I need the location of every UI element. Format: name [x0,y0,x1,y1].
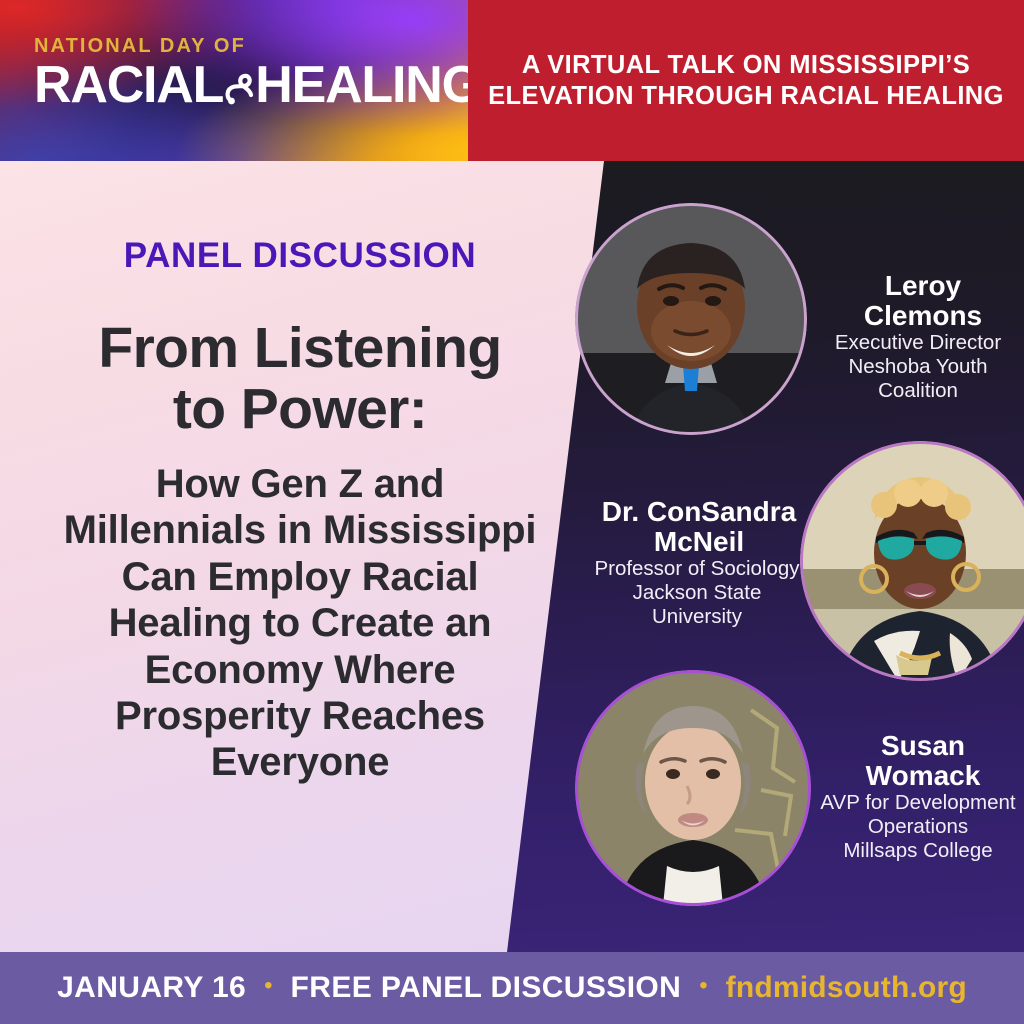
poster-footer: JANUARY 16 • FREE PANEL DISCUSSION • fnd… [0,952,1024,1024]
panelist-name-2-line-2: McNeil [590,527,808,557]
panelist-role-3: AVP for Development Operations Millsaps … [814,791,1022,864]
panelist-name-2: Dr. ConSandra McNeil [590,497,808,557]
panelist-role-2-line-2: Jackson State University [586,581,808,629]
panelist-role-2-line-1: Professor of Sociology [586,557,808,581]
panelist-role-3-line-2: Operations [814,815,1022,839]
panelist-name-1-line-1: Leroy [828,271,1018,301]
panelist-photo-3 [575,670,811,906]
subtitle-line-3: Can Employ Racial [26,554,574,600]
logo-word-healing: HEALING [255,59,468,111]
panelist-role-2: Professor of Sociology Jackson State Uni… [586,557,808,630]
poster-body: PANEL DISCUSSION From Listening to Power… [0,161,1024,952]
panelist-role-1: Executive Director Neshoba Youth Coaliti… [812,331,1024,404]
subtitle-line-6: Prosperity Reaches [26,693,574,739]
logo-tagline: NATIONAL DAY OF [34,36,446,56]
ampersand-swirl-icon [224,66,254,110]
banner-line-2: ELEVATION THROUGH RACIAL HEALING [486,81,1006,111]
panelist-name-3: Susan Womack [828,731,1018,791]
poster-header: NATIONAL DAY OF RACIAL HEALING A VIRTUAL… [0,0,1024,161]
subtitle-line-7: Everyone [26,739,574,785]
avatar [575,670,811,906]
panelist-name-3-line-1: Susan [828,731,1018,761]
panelist-name-1-line-2: Clemons [828,301,1018,331]
footer-separator-dot-icon: • [699,974,707,998]
footer-event-label: FREE PANEL DISCUSSION [291,971,682,1005]
subtitle-line-5: Economy Where [26,647,574,693]
banner-text: A VIRTUAL TALK ON MISSISSIPPI’S ELEVATIO… [486,50,1006,110]
page-title: From Listening to Power: [40,318,560,440]
panelist-role-3-line-1: AVP for Development [814,791,1022,815]
panelist-role-1-line-1: Executive Director [812,331,1024,355]
page-subtitle: How Gen Z and Millennials in Mississippi… [26,461,574,786]
title-line-1: From Listening [40,318,560,379]
panelist-name-2-line-1: Dr. ConSandra [590,497,808,527]
panelist-photo-2 [800,441,1024,681]
footer-row: JANUARY 16 • FREE PANEL DISCUSSION • fnd… [57,971,967,1005]
avatar [800,441,1024,681]
footer-date: JANUARY 16 [57,971,246,1005]
panelist-role-3-line-3: Millsaps College [814,839,1022,863]
event-poster: NATIONAL DAY OF RACIAL HEALING A VIRTUAL… [0,0,1024,1024]
subtitle-line-2: Millennials in Mississippi [26,507,574,553]
footer-website-link[interactable]: fndmidsouth.org [726,971,967,1005]
panelist-name-3-line-2: Womack [828,761,1018,791]
banner-line-1: A VIRTUAL TALK ON MISSISSIPPI’S [486,50,1006,80]
title-line-2: to Power: [40,379,560,440]
avatar [575,203,807,435]
panelist-name-1: Leroy Clemons [828,271,1018,331]
subtitle-line-1: How Gen Z and [26,461,574,507]
logo-wordmark: RACIAL HEALING [34,59,446,111]
panelist-photo-1 [575,203,807,435]
subtitle-line-4: Healing to Create an [26,600,574,646]
national-day-of-racial-healing-logo: NATIONAL DAY OF RACIAL HEALING [0,0,468,161]
virtual-talk-banner: A VIRTUAL TALK ON MISSISSIPPI’S ELEVATIO… [468,0,1024,161]
footer-separator-dot-icon: • [264,974,272,998]
logo-word-racial: RACIAL [34,59,223,111]
panel-discussion-kicker: PANEL DISCUSSION [60,238,540,273]
panelist-role-1-line-2: Neshoba Youth Coalition [812,355,1024,403]
